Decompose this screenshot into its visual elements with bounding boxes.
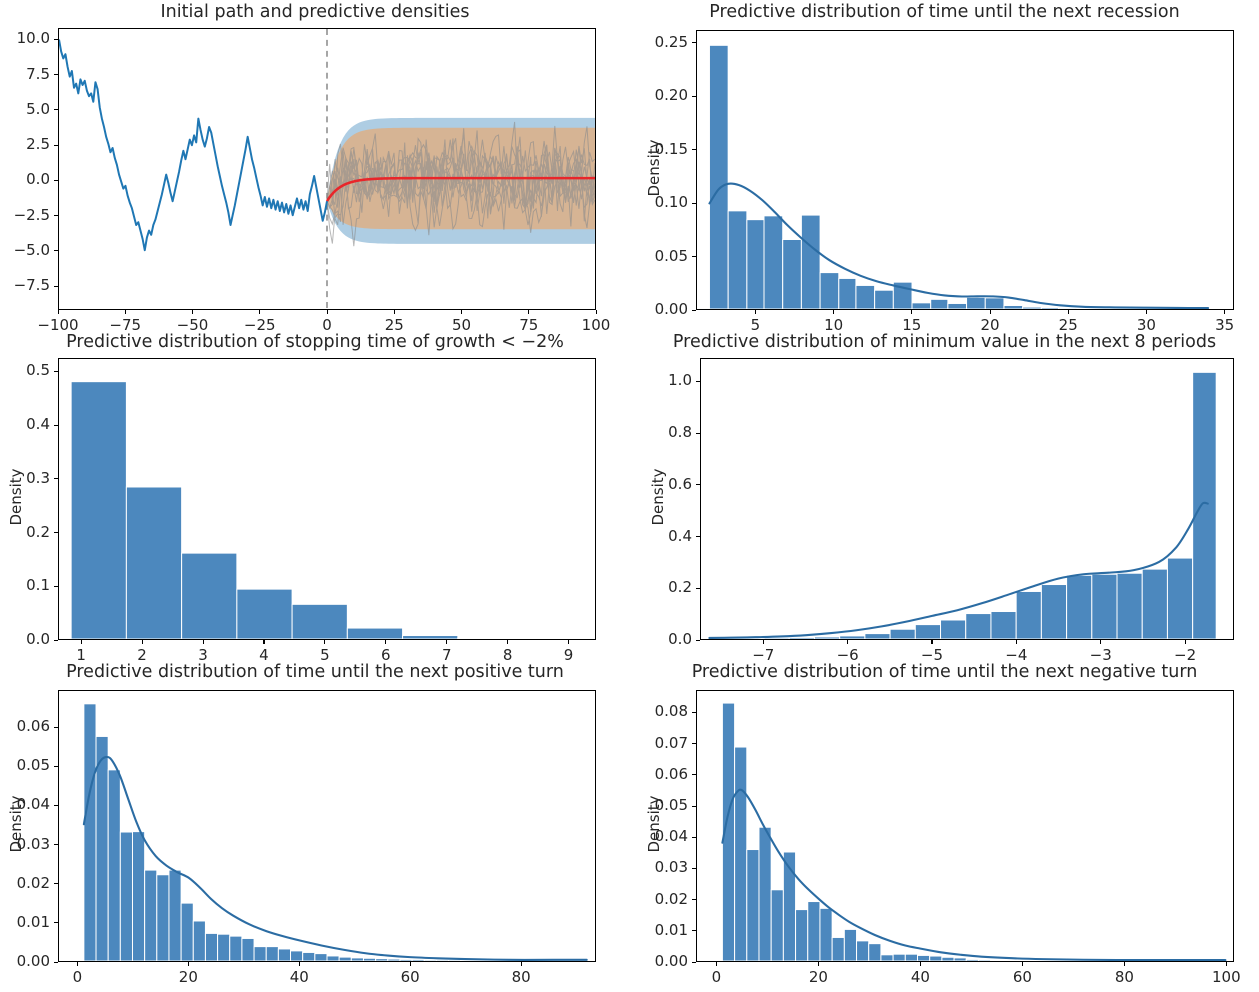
histogram-bar (844, 929, 856, 961)
y-tickmark (54, 250, 58, 251)
y-tickmark (692, 930, 696, 931)
histogram-bar (783, 240, 802, 310)
y-tick-label: 1.0 (642, 371, 692, 389)
x-tickmark (847, 640, 848, 644)
histogram-bar (254, 947, 266, 961)
histogram-bar (839, 278, 856, 309)
histogram-bar (291, 951, 303, 961)
histogram-bar (954, 958, 966, 961)
histogram-bar (869, 944, 881, 961)
y-axis-label-positive-turn: Density (7, 764, 25, 884)
observed-path-line (59, 39, 327, 250)
x-tickmark (920, 962, 921, 966)
x-tickmark (77, 962, 78, 966)
figure-canvas: Initial path and predictive densities10.… (0, 0, 1259, 992)
histogram-bar (157, 875, 169, 961)
histogram-bar (461, 960, 473, 961)
x-tickmark (446, 640, 447, 644)
histogram-bar (71, 382, 126, 639)
y-tickmark (54, 883, 58, 884)
y-tickmark (692, 203, 696, 204)
histogram-bar (230, 936, 242, 961)
histogram-bar (881, 955, 893, 961)
y-tickmark (696, 484, 700, 485)
y-tickmark (692, 96, 696, 97)
histogram-bar (905, 954, 917, 961)
histogram-bar (132, 832, 144, 961)
histogram-bar (808, 902, 820, 961)
x-tickmark (1226, 962, 1227, 966)
y-tickmark (692, 712, 696, 713)
histogram-bar (856, 285, 875, 309)
histogram-bar (875, 290, 894, 309)
y-tick-label: 5.0 (0, 100, 50, 118)
x-tickmark (203, 640, 204, 644)
plot-canvas-next-recession (697, 31, 1233, 309)
histogram-bar (759, 827, 771, 961)
y-tickmark (54, 39, 58, 40)
x-tick-label: 80 (476, 968, 566, 986)
panel-title-minimum-value: Predictive distribution of minimum value… (630, 330, 1259, 354)
y-tickmark (692, 837, 696, 838)
y-tick-label: 0.06 (0, 717, 50, 735)
plot-canvas-stopping-time (59, 359, 595, 639)
y-tickmark (54, 215, 58, 216)
histogram-bar (339, 957, 351, 961)
plot-area-positive-turn (58, 690, 596, 962)
y-tick-label: 0.01 (638, 921, 688, 939)
x-tick-label: 20 (773, 968, 863, 986)
y-tick-label: 0.4 (0, 415, 50, 433)
x-tickmark (763, 640, 764, 644)
plot-area-negative-turn (696, 690, 1234, 962)
histogram-bar (893, 954, 905, 961)
y-tickmark (54, 371, 58, 372)
y-tick-label: −2.5 (0, 206, 50, 224)
x-tickmark (324, 640, 325, 644)
x-tickmark (1224, 310, 1225, 314)
histogram-bar (1041, 308, 1058, 309)
y-tickmark (692, 806, 696, 807)
x-tickmark (259, 310, 260, 314)
histogram-bar (120, 832, 132, 961)
y-tick-label: 0.0 (0, 170, 50, 188)
x-tickmark (192, 310, 193, 314)
histogram-bar (801, 215, 820, 309)
y-tickmark (54, 922, 58, 923)
histogram-bar (182, 553, 237, 639)
histogram-bar (278, 949, 290, 961)
histogram-bar (412, 959, 424, 961)
x-tickmark (521, 962, 522, 966)
histogram-bar (942, 957, 954, 961)
histogram-bars (709, 45, 1206, 309)
histogram-bar (915, 625, 940, 639)
histogram-bar (857, 941, 869, 961)
histogram-bar (327, 956, 339, 961)
histogram-bar (193, 921, 205, 961)
histogram-bar (912, 303, 931, 309)
x-tickmark (125, 310, 126, 314)
x-tickmark (568, 640, 569, 644)
plot-canvas-initial-path (59, 29, 595, 309)
y-tick-label: 7.5 (0, 65, 50, 83)
histogram-bar (890, 629, 915, 639)
histogram-bar (1015, 960, 1027, 961)
histogram-bar (363, 958, 375, 961)
histogram-bar (930, 956, 942, 961)
histogram-bar (1039, 960, 1051, 961)
y-tickmark (54, 586, 58, 587)
y-tick-label: 0.5 (0, 361, 50, 379)
plot-area-initial-path (58, 28, 596, 310)
y-tickmark (692, 310, 696, 311)
y-tickmark (692, 149, 696, 150)
histogram-bar (1004, 305, 1023, 309)
y-tickmark (692, 42, 696, 43)
histogram-bar (388, 959, 400, 961)
histogram-bar (266, 947, 278, 961)
histogram-bar (436, 960, 448, 961)
x-tick-label: 60 (977, 968, 1067, 986)
histogram-bar (978, 960, 990, 961)
x-tickmark (1124, 962, 1125, 966)
y-tickmark (54, 478, 58, 479)
histogram-bar (771, 890, 783, 961)
y-tickmark (692, 868, 696, 869)
x-tickmark (507, 640, 508, 644)
histogram-bar (991, 960, 1003, 961)
y-tickmark (54, 74, 58, 75)
histogram-bar (205, 933, 217, 961)
x-tick-label: 0 (671, 968, 761, 986)
plot-canvas-positive-turn (59, 691, 595, 961)
y-tickmark (692, 899, 696, 900)
x-tickmark (818, 962, 819, 966)
histogram-bar (1092, 574, 1117, 639)
histogram-bar (941, 620, 966, 639)
histogram-bars (71, 382, 513, 639)
x-tickmark (142, 640, 143, 644)
histogram-bar (789, 637, 814, 639)
y-tick-label: 0.08 (638, 702, 688, 720)
histogram-bar (1067, 575, 1092, 639)
histogram-bar (145, 870, 157, 961)
x-tickmark (911, 310, 912, 314)
x-tick-label: 20 (143, 968, 233, 986)
y-tickmark (54, 766, 58, 767)
panel-title-initial-path: Initial path and predictive densities (0, 0, 630, 24)
histogram-bars (714, 372, 1217, 639)
histogram-bar (948, 303, 967, 309)
y-tickmark (692, 774, 696, 775)
y-axis-label-negative-turn: Density (645, 764, 663, 884)
y-tickmark (54, 844, 58, 845)
x-tickmark (461, 310, 462, 314)
plot-canvas-minimum-value (701, 359, 1233, 639)
histogram-bar (1142, 569, 1167, 639)
histogram-bar (840, 636, 865, 639)
x-tickmark (299, 962, 300, 966)
panel-title-stopping-time: Predictive distribution of stopping time… (0, 330, 630, 354)
plot-area-stopping-time (58, 358, 596, 640)
y-tickmark (54, 286, 58, 287)
histogram-bar (242, 938, 254, 961)
panel-title-next-recession: Predictive distribution of time until th… (630, 0, 1259, 24)
x-tickmark (263, 640, 264, 644)
y-tick-label: −5.0 (0, 241, 50, 259)
histogram-bar (820, 908, 832, 961)
histogram-bars (722, 703, 1210, 961)
histogram-bar (1077, 308, 1096, 309)
y-tick-label: 0.1 (0, 576, 50, 594)
x-tickmark (755, 310, 756, 314)
histogram-bar (108, 770, 120, 961)
y-tick-label: 0.07 (638, 734, 688, 752)
x-tickmark (81, 640, 82, 644)
panel-title-positive-turn: Predictive distribution of time until th… (0, 660, 630, 684)
histogram-bar (865, 634, 890, 639)
histogram-bar (832, 937, 844, 961)
histogram-bar (820, 273, 839, 309)
histogram-bar (84, 704, 96, 961)
histogram-bar (917, 955, 929, 961)
y-tick-label: 2.5 (0, 135, 50, 153)
histogram-bar (1058, 308, 1077, 309)
x-tickmark (931, 640, 932, 644)
histogram-bar (169, 870, 181, 961)
histogram-bar (764, 216, 783, 309)
x-tickmark (1100, 640, 1101, 644)
x-tickmark (833, 310, 834, 314)
x-tickmark (188, 962, 189, 966)
y-tickmark (696, 433, 700, 434)
histogram-bar (1193, 372, 1217, 639)
histogram-bar (347, 628, 402, 639)
y-tick-label: −7.5 (0, 276, 50, 294)
x-tickmark (58, 310, 59, 314)
histogram-bar (292, 604, 347, 639)
x-tickmark (394, 310, 395, 314)
histogram-bar (181, 903, 193, 961)
x-tick-label: 60 (365, 968, 455, 986)
histogram-bar (126, 487, 181, 639)
histogram-bar (814, 637, 839, 639)
y-tickmark (54, 640, 58, 641)
y-tickmark (692, 743, 696, 744)
histogram-bar (449, 960, 461, 961)
histogram-bar (303, 952, 315, 961)
y-tickmark (54, 805, 58, 806)
histogram-bar (735, 747, 747, 961)
y-tickmark (692, 256, 696, 257)
histogram-bar (315, 954, 327, 961)
y-tickmark (54, 962, 58, 963)
y-tickmark (696, 588, 700, 589)
x-tick-label: 40 (875, 968, 965, 986)
y-tickmark (692, 962, 696, 963)
x-tickmark (596, 310, 597, 314)
histogram-bar (1027, 960, 1039, 961)
x-tickmark (716, 962, 717, 966)
y-axis-label-minimum-value: Density (649, 437, 667, 557)
histogram-bar (931, 299, 948, 309)
y-axis-label-next-recession: Density (645, 108, 663, 228)
histogram-bar (747, 220, 764, 309)
y-tickmark (54, 727, 58, 728)
x-tick-label: 0 (32, 968, 122, 986)
histogram-bar (403, 636, 458, 639)
x-tickmark (1022, 962, 1023, 966)
histogram-bar (400, 959, 412, 961)
y-axis-label-stopping-time: Density (7, 437, 25, 557)
panel-title-negative-turn: Predictive distribution of time until th… (630, 660, 1259, 684)
x-tickmark (1146, 310, 1147, 314)
histogram-bar (376, 959, 388, 961)
y-tickmark (54, 180, 58, 181)
y-tick-label: 0.0 (642, 630, 692, 648)
y-tick-label: 0.01 (0, 913, 50, 931)
y-tick-label: 0.25 (638, 33, 688, 51)
plot-canvas-negative-turn (697, 691, 1233, 961)
y-tick-label: 0.02 (638, 890, 688, 908)
x-tickmark (990, 310, 991, 314)
x-tick-label: 100 (1181, 968, 1259, 986)
histogram-bar (1041, 585, 1066, 639)
x-tick-label: 80 (1079, 968, 1169, 986)
x-tickmark (1068, 310, 1069, 314)
histogram-bar (796, 910, 808, 961)
y-tickmark (696, 381, 700, 382)
x-tick-label: 40 (254, 968, 344, 986)
y-tickmark (54, 109, 58, 110)
histogram-bar (747, 850, 759, 961)
histogram-bar (1167, 558, 1192, 639)
y-tickmark (696, 640, 700, 641)
histogram-bar (966, 959, 978, 961)
histogram-bars (84, 704, 582, 961)
histogram-bar (1003, 960, 1015, 961)
histogram-bar (1117, 573, 1142, 639)
histogram-bar (218, 934, 230, 961)
y-tick-label: 0.05 (638, 247, 688, 265)
histogram-bar (991, 612, 1016, 639)
histogram-bar (1023, 307, 1042, 309)
histogram-bar (985, 298, 1004, 309)
x-tickmark (1185, 640, 1186, 644)
histogram-bar (96, 736, 108, 961)
histogram-bar (709, 45, 728, 309)
x-tickmark (528, 310, 529, 314)
y-tickmark (696, 536, 700, 537)
histogram-bar (424, 960, 436, 961)
x-tickmark (327, 310, 328, 314)
y-tick-label: 0.20 (638, 86, 688, 104)
histogram-bar (966, 614, 991, 639)
x-tickmark (1016, 640, 1017, 644)
histogram-bar (237, 589, 292, 639)
y-tick-label: 0.00 (638, 300, 688, 318)
histogram-bar (351, 958, 363, 961)
histogram-bar (458, 638, 513, 639)
y-tick-label: 10.0 (0, 29, 50, 47)
histogram-bar (728, 211, 747, 309)
x-tickmark (385, 640, 386, 644)
plot-area-minimum-value (700, 358, 1234, 640)
y-tickmark (54, 145, 58, 146)
y-tickmark (54, 425, 58, 426)
x-tickmark (410, 962, 411, 966)
histogram-bar (967, 297, 986, 309)
histogram-bar (1016, 591, 1041, 639)
y-tickmark (54, 532, 58, 533)
plot-area-next-recession (696, 30, 1234, 310)
y-tick-label: 0.2 (642, 578, 692, 596)
